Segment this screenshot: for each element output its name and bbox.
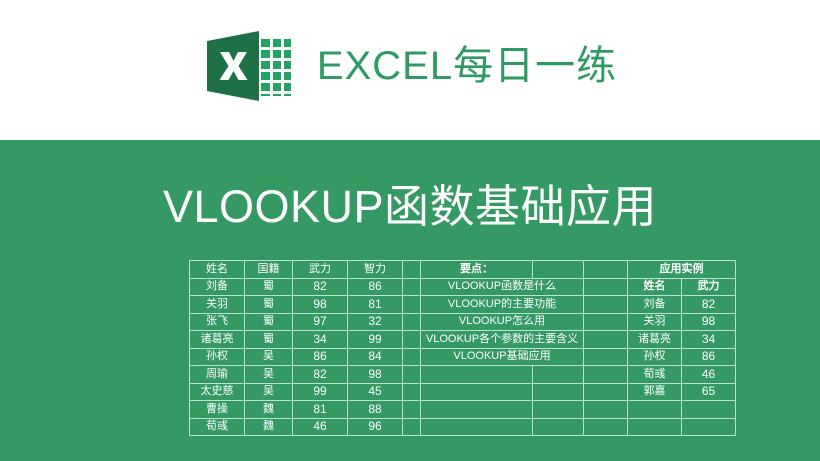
table-row: 太史慈 吴 99 45 郭嘉 65 [190,383,736,401]
table-row: 姓名 国籍 武力 智力 要点： 应用实例 [190,261,736,279]
cell-example-power: 82 [682,296,736,314]
cell-blank [533,418,584,436]
cell-example-name: 孙权 [628,348,682,366]
cell-spacer [403,331,421,349]
cell-intellect: 32 [348,313,403,331]
table-row: 关羽 蜀 98 81 VLOOKUP的主要功能 刘备 82 [190,296,736,314]
cell-blank [584,366,628,384]
cell-nation: 蜀 [245,296,293,314]
cell-spacer [403,418,421,436]
cell-name: 周瑜 [190,366,245,384]
cell-spacer [403,401,421,419]
table-row: 张飞 蜀 97 32 VLOOKUP怎么用 关羽 98 [190,313,736,331]
cell-blank [421,401,533,419]
table-row: 周瑜 吴 82 98 荀彧 46 [190,366,736,384]
cell-nation: 吴 [245,366,293,384]
cell-blank [421,383,533,401]
cell-name: 刘备 [190,278,245,296]
cell-power-header: 武力 [293,261,348,279]
cell-name: 张飞 [190,313,245,331]
cell-example-power: 34 [682,331,736,349]
cell-intellect: 84 [348,348,403,366]
spreadsheet-grid: 姓名 国籍 武力 智力 要点： 应用实例 刘备 蜀 82 [189,260,681,436]
cell-example-name: 诸葛亮 [628,331,682,349]
cell-intellect: 99 [348,331,403,349]
cell-blank [421,366,533,384]
cell-intellect: 45 [348,383,403,401]
table-row: 刘备 蜀 82 86 VLOOKUP函数是什么 姓名 武力 [190,278,736,296]
brand-title: EXCEL每日一练 [317,46,617,86]
cell-example-power: 98 [682,313,736,331]
cell-nation-header: 国籍 [245,261,293,279]
cell-example-name: 郭嘉 [628,383,682,401]
cell-keypoints-header: 要点： [421,261,533,279]
cell-spacer [403,278,421,296]
cell-spacer [403,261,421,279]
cell-blank [533,383,584,401]
cell-spacer [403,366,421,384]
cell-nation: 吴 [245,348,293,366]
cell-nation: 魏 [245,418,293,436]
cell-nation: 吴 [245,383,293,401]
cell-blank [584,261,628,279]
cell-example-power: 86 [682,348,736,366]
cell-blank [584,278,628,296]
slide-header: EXCEL每日一练 [0,0,820,140]
cell-keypoint-item: VLOOKUP的主要功能 [421,296,584,314]
cell-nation: 蜀 [245,278,293,296]
cell-power: 34 [293,331,348,349]
cell-name: 关羽 [190,296,245,314]
cell-power: 81 [293,401,348,419]
table-row: 曹操 魏 81 88 [190,401,736,419]
slide-body: VLOOKUP函数基础应用 姓名 [0,140,820,461]
cell-power: 99 [293,383,348,401]
cell-power: 82 [293,278,348,296]
cell-blank [682,401,736,419]
cell-blank [533,261,584,279]
cell-power: 46 [293,418,348,436]
cell-blank [533,366,584,384]
cell-example-name-header: 姓名 [628,278,682,296]
cell-blank [682,418,736,436]
slide-canvas: EXCEL每日一练 VLOOKUP函数基础应用 [0,0,820,461]
cell-name: 曹操 [190,401,245,419]
cell-blank [421,418,533,436]
cell-intellect: 88 [348,401,403,419]
cell-intellect-header: 智力 [348,261,403,279]
cell-intellect: 81 [348,296,403,314]
cell-name: 荀彧 [190,418,245,436]
cell-blank [584,296,628,314]
cell-power: 97 [293,313,348,331]
cell-name: 太史慈 [190,383,245,401]
cell-example-power: 65 [682,383,736,401]
cell-blank [584,383,628,401]
cell-spacer [403,348,421,366]
table-row: 荀彧 魏 46 96 [190,418,736,436]
cell-blank [628,401,682,419]
cell-nation: 蜀 [245,313,293,331]
cell-spacer [403,296,421,314]
cell-spacer [403,313,421,331]
cell-keypoint-item: VLOOKUP基础应用 [421,348,584,366]
cell-example-power: 46 [682,366,736,384]
cell-keypoint-item: VLOOKUP函数是什么 [421,278,584,296]
brand-row: EXCEL每日一练 [203,27,617,105]
cell-blank [584,348,628,366]
cell-keypoint-item: VLOOKUP怎么用 [421,313,584,331]
cell-nation: 魏 [245,401,293,419]
cell-blank [584,331,628,349]
table-row: 孙权 吴 86 84 VLOOKUP基础应用 孙权 86 [190,348,736,366]
cell-example-power-header: 武力 [682,278,736,296]
cell-blank [533,401,584,419]
cell-name-header: 姓名 [190,261,245,279]
cell-name: 诸葛亮 [190,331,245,349]
cell-example-title: 应用实例 [628,261,736,279]
cell-power: 86 [293,348,348,366]
cell-blank [584,418,628,436]
cell-example-name: 关羽 [628,313,682,331]
table-row: 诸葛亮 蜀 34 99 VLOOKUP各个参数的主要含义 诸葛亮 34 [190,331,736,349]
cell-blank [584,313,628,331]
cell-example-name: 荀彧 [628,366,682,384]
cell-blank [584,401,628,419]
cell-nation: 蜀 [245,331,293,349]
cell-spacer [403,383,421,401]
cell-example-name: 刘备 [628,296,682,314]
cell-intellect: 96 [348,418,403,436]
sheet-table: 姓名 国籍 武力 智力 要点： 应用实例 刘备 蜀 82 [189,260,736,436]
cell-power: 98 [293,296,348,314]
cell-power: 82 [293,366,348,384]
cell-blank [628,418,682,436]
cell-intellect: 98 [348,366,403,384]
excel-logo-icon [203,27,295,105]
cell-intellect: 86 [348,278,403,296]
page-title: VLOOKUP函数基础应用 [0,184,820,229]
cell-keypoint-item: VLOOKUP各个参数的主要含义 [421,331,584,349]
cell-name: 孙权 [190,348,245,366]
